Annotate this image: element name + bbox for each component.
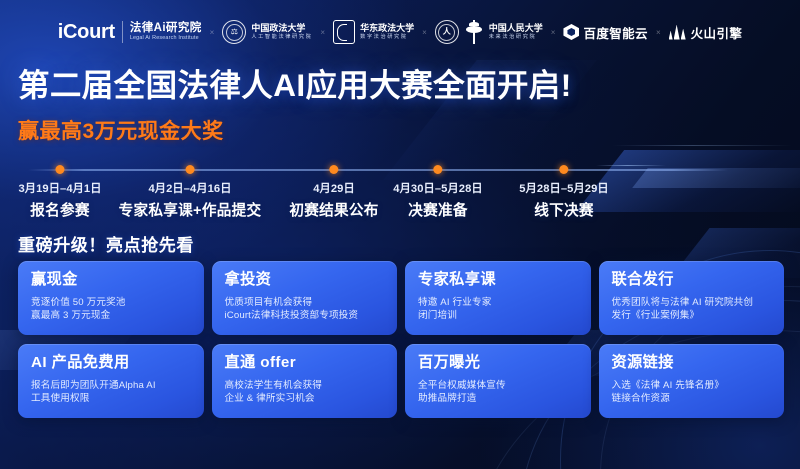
partner-logo-cupl: ⚖ 中国政法大学 人工智能法律研究院 (222, 15, 312, 49)
university-seal-icon: 人 (435, 20, 459, 44)
card-line-1: 竞逐价值 50 万元奖池 (31, 296, 191, 310)
volcano-engine-icon (669, 25, 687, 40)
main-headline: 第二届全国法律人AI应用大赛全面开启! (18, 68, 718, 103)
card-line-2: 赢最高 3 万元现金 (31, 309, 191, 323)
icourt-name-cn: 法律Ai研究院 (130, 22, 202, 35)
card-title: 百万曝光 (418, 355, 578, 372)
timeline-step-3: 4月29日 初赛结果公布 (289, 160, 378, 220)
card-line-2: 企业 & 律所实习机会 (225, 392, 385, 406)
timeline-step-1: 3月19日–4月1日 报名参赛 (18, 160, 101, 220)
card-line-1: 全平台权威媒体宣传 (418, 379, 578, 393)
card-line-1: 高校法学生有机会获得 (225, 379, 385, 393)
logo-separator-icon: × (422, 28, 427, 37)
icourt-wordmark: iCourt (58, 21, 115, 44)
timeline-dot-icon (186, 165, 195, 174)
card-line-2: 链接合作资源 (612, 392, 772, 406)
timeline-label: 决赛准备 (393, 199, 482, 220)
partner-sub-cn: 人工智能法律研究院 (251, 35, 312, 41)
university-seal-icon: ⚖ (222, 20, 246, 44)
benefit-card-grid: 赢现金 竞逐价值 50 万元奖池 赢最高 3 万元现金 拿投资 优质项目有机会获… (18, 261, 784, 418)
partner-sub-cn: 未来法治研究院 (489, 35, 543, 41)
timeline-dot-icon (434, 165, 443, 174)
benefit-card[interactable]: 百万曝光 全平台权威媒体宣传 助推品牌打造 (405, 344, 591, 418)
sub-headline: 赢最高3万元现金大奖 (18, 119, 618, 144)
card-line-1: 入选《法律 AI 先锋名册》 (612, 379, 772, 393)
card-title: 直通 offer (225, 355, 385, 372)
benefit-card[interactable]: AI 产品免费用 报名后即为团队开通Alpha AI 工具使用权限 (18, 344, 204, 418)
card-title: 赢现金 (31, 272, 191, 289)
card-title: 专家私享课 (418, 272, 578, 289)
partner-sub-cn: 数字法治研究院 (360, 35, 414, 41)
timeline-label: 线下决赛 (519, 199, 608, 220)
partner-logo-ruc: 人 中国人民大学 未来法治研究院 (435, 15, 543, 49)
benefit-card[interactable]: 赢现金 竞逐价值 50 万元奖池 赢最高 3 万元现金 (18, 261, 204, 335)
partner-name-cn: 中国政法大学 (251, 23, 312, 33)
card-title: AI 产品免费用 (31, 355, 191, 372)
square-seal-icon (333, 20, 355, 44)
icourt-logo: iCourt 法律Ai研究院 Legal Ai Research Institu… (58, 15, 202, 49)
card-title: 联合发行 (612, 272, 772, 289)
icourt-name-en: Legal Ai Research Institute (130, 36, 202, 42)
baidu-cloud-icon (563, 24, 579, 40)
timeline-date: 4月2日–4月16日 (119, 180, 262, 196)
card-line-2: iCourt法律科技投资部专项投资 (225, 309, 385, 323)
partner-name-cn: 火山引擎 (691, 23, 743, 42)
card-line-1: 优质项目有机会获得 (225, 296, 385, 310)
card-title: 拿投资 (225, 272, 385, 289)
partner-name-cn: 中国人民大学 (489, 23, 543, 33)
timeline-date: 5月28日–5月29日 (519, 180, 608, 196)
card-line-1: 特邀 AI 行业专家 (418, 296, 578, 310)
benefit-card[interactable]: 资源链接 入选《法律 AI 先锋名册》 链接合作资源 (599, 344, 785, 418)
card-line-2: 发行《行业案例集》 (612, 309, 772, 323)
timeline-step-4: 4月30日–5月28日 决赛准备 (393, 160, 482, 220)
partner-logo-baidu-cloud: 百度智能云 (563, 15, 648, 49)
logo-separator-icon: × (210, 28, 215, 37)
timeline-dot-icon (56, 165, 65, 174)
tower-seal-icon (464, 20, 484, 44)
timeline-date: 3月19日–4月1日 (18, 180, 101, 196)
card-line-1: 报名后即为团队开通Alpha AI (31, 379, 191, 393)
timeline-step-5: 5月28日–5月29日 线下决赛 (519, 160, 608, 220)
card-line-2: 闭门培训 (418, 309, 578, 323)
card-title: 资源链接 (612, 355, 772, 372)
timeline-label: 专家私享课+作品提交 (119, 199, 262, 220)
partner-logo-bar: iCourt 法律Ai研究院 Legal Ai Research Institu… (0, 14, 800, 50)
benefit-card[interactable]: 专家私享课 特邀 AI 行业专家 闭门培训 (405, 261, 591, 335)
timeline-step-2: 4月2日–4月16日 专家私享课+作品提交 (119, 160, 262, 220)
timeline-dot-icon (560, 165, 569, 174)
timeline-date: 4月30日–5月28日 (393, 180, 482, 196)
card-line-2: 助推品牌打造 (418, 392, 578, 406)
card-line-1: 优秀团队将与法律 AI 研究院共创 (612, 296, 772, 310)
card-line-2: 工具使用权限 (31, 392, 191, 406)
timeline-dot-icon (330, 165, 339, 174)
partner-logo-ecupl: 华东政法大学 数字法治研究院 (333, 15, 414, 49)
section-title: 重磅升级！亮点抢先看 (18, 231, 194, 256)
partner-name-cn: 百度智能云 (583, 23, 648, 42)
logo-separator-icon: × (320, 28, 325, 37)
timeline-label: 报名参赛 (18, 199, 101, 220)
event-timeline: 3月19日–4月1日 报名参赛 4月2日–4月16日 专家私享课+作品提交 4月… (0, 160, 800, 218)
benefit-card[interactable]: 直通 offer 高校法学生有机会获得 企业 & 律所实习机会 (212, 344, 398, 418)
benefit-card[interactable]: 拿投资 优质项目有机会获得 iCourt法律科技投资部专项投资 (212, 261, 398, 335)
logo-separator-icon: × (656, 28, 661, 37)
promo-poster: iCourt 法律Ai研究院 Legal Ai Research Institu… (0, 0, 800, 469)
timeline-date: 4月29日 (289, 180, 378, 196)
partner-name-cn: 华东政法大学 (360, 23, 414, 33)
partner-logo-volcano-engine: 火山引擎 (669, 15, 743, 49)
benefit-card[interactable]: 联合发行 优秀团队将与法律 AI 研究院共创 发行《行业案例集》 (599, 261, 785, 335)
timeline-label: 初赛结果公布 (289, 199, 378, 220)
logo-separator-icon: × (551, 28, 556, 37)
logo-divider (122, 21, 123, 43)
